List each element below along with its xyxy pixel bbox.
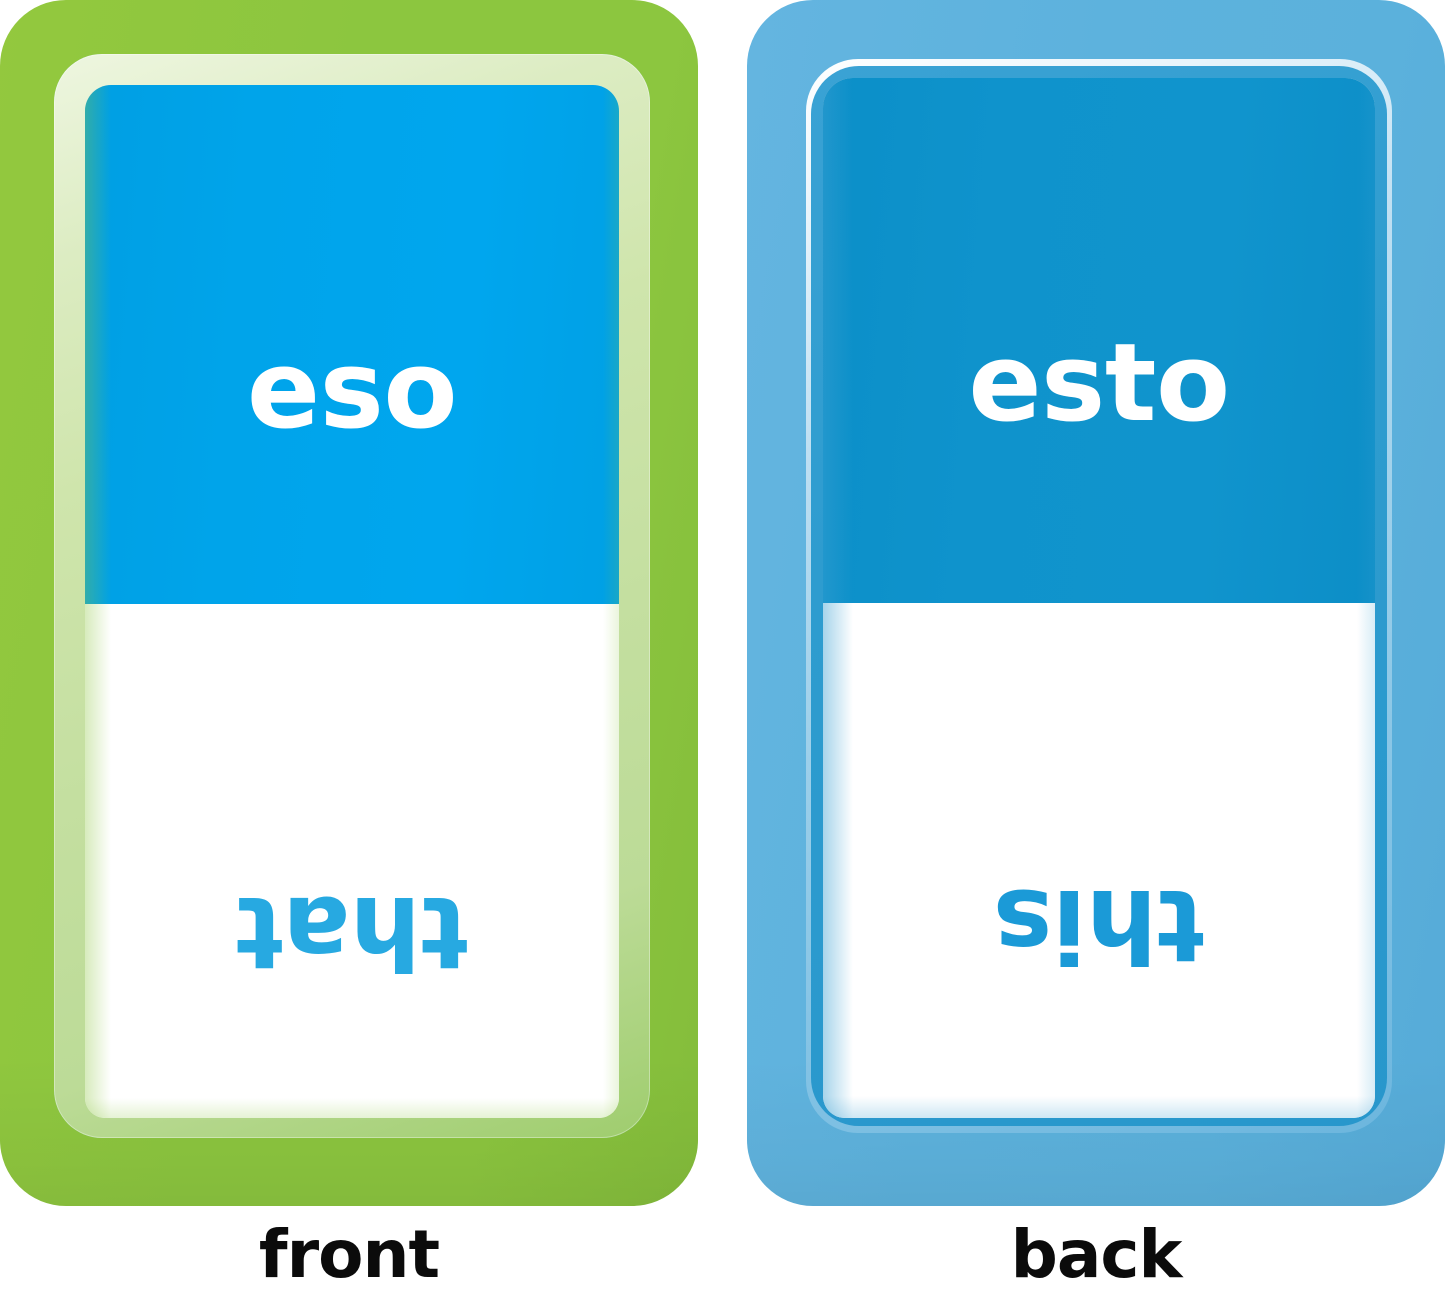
flashcard-stage: eso that esto this front back	[0, 0, 1445, 1316]
back-caption-label: back	[747, 1222, 1445, 1288]
front-primary-word: eso	[85, 337, 619, 445]
front-secondary-word: that	[85, 882, 619, 982]
back-secondary-word: this	[823, 875, 1375, 975]
back-panel-lower-white	[823, 603, 1375, 1118]
front-panel-lower-white	[85, 604, 619, 1118]
front-caption-label: front	[0, 1222, 698, 1288]
front-card-panel: eso that	[85, 85, 619, 1118]
back-card-panel: esto this	[823, 78, 1375, 1118]
flashcard-front[interactable]: eso that	[0, 0, 698, 1206]
back-primary-word: esto	[823, 330, 1375, 438]
flashcard-back[interactable]: esto this	[747, 0, 1445, 1206]
